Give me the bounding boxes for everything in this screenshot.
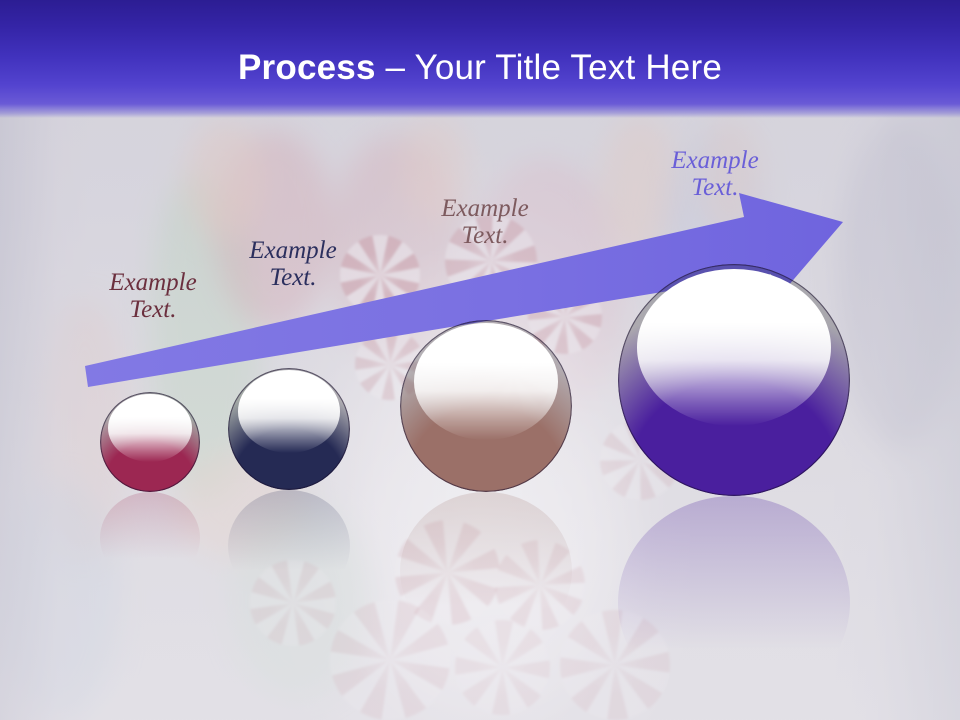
- process-sphere-1[interactable]: [100, 392, 200, 492]
- sphere-rim: [100, 392, 200, 492]
- sphere-reflection: [228, 490, 350, 602]
- sphere-rim: [400, 320, 572, 492]
- sphere-reflection: [618, 496, 850, 709]
- process-sphere-2[interactable]: [228, 368, 350, 490]
- slide-header-bar: Process – Your Title Text Here: [0, 0, 960, 118]
- step-label-1[interactable]: Example Text.: [88, 270, 218, 323]
- slide-title-rest: – Your Title Text Here: [376, 48, 722, 87]
- slide-canvas: Example Text. Example Text. Example Text…: [0, 0, 960, 720]
- step-label-3[interactable]: Example Text.: [420, 196, 550, 249]
- step-label-2[interactable]: Example Text.: [228, 238, 358, 291]
- process-sphere-4[interactable]: [618, 264, 850, 496]
- sphere-rim: [228, 368, 350, 490]
- slide-title-emphasis: Process: [238, 48, 376, 87]
- sphere-reflection: [400, 492, 572, 650]
- slide-title: Process – Your Title Text Here: [0, 48, 960, 88]
- sphere-reflection: [100, 492, 200, 584]
- step-label-4[interactable]: Example Text.: [650, 148, 780, 201]
- sphere-rim: [618, 264, 850, 496]
- process-sphere-3[interactable]: [400, 320, 572, 492]
